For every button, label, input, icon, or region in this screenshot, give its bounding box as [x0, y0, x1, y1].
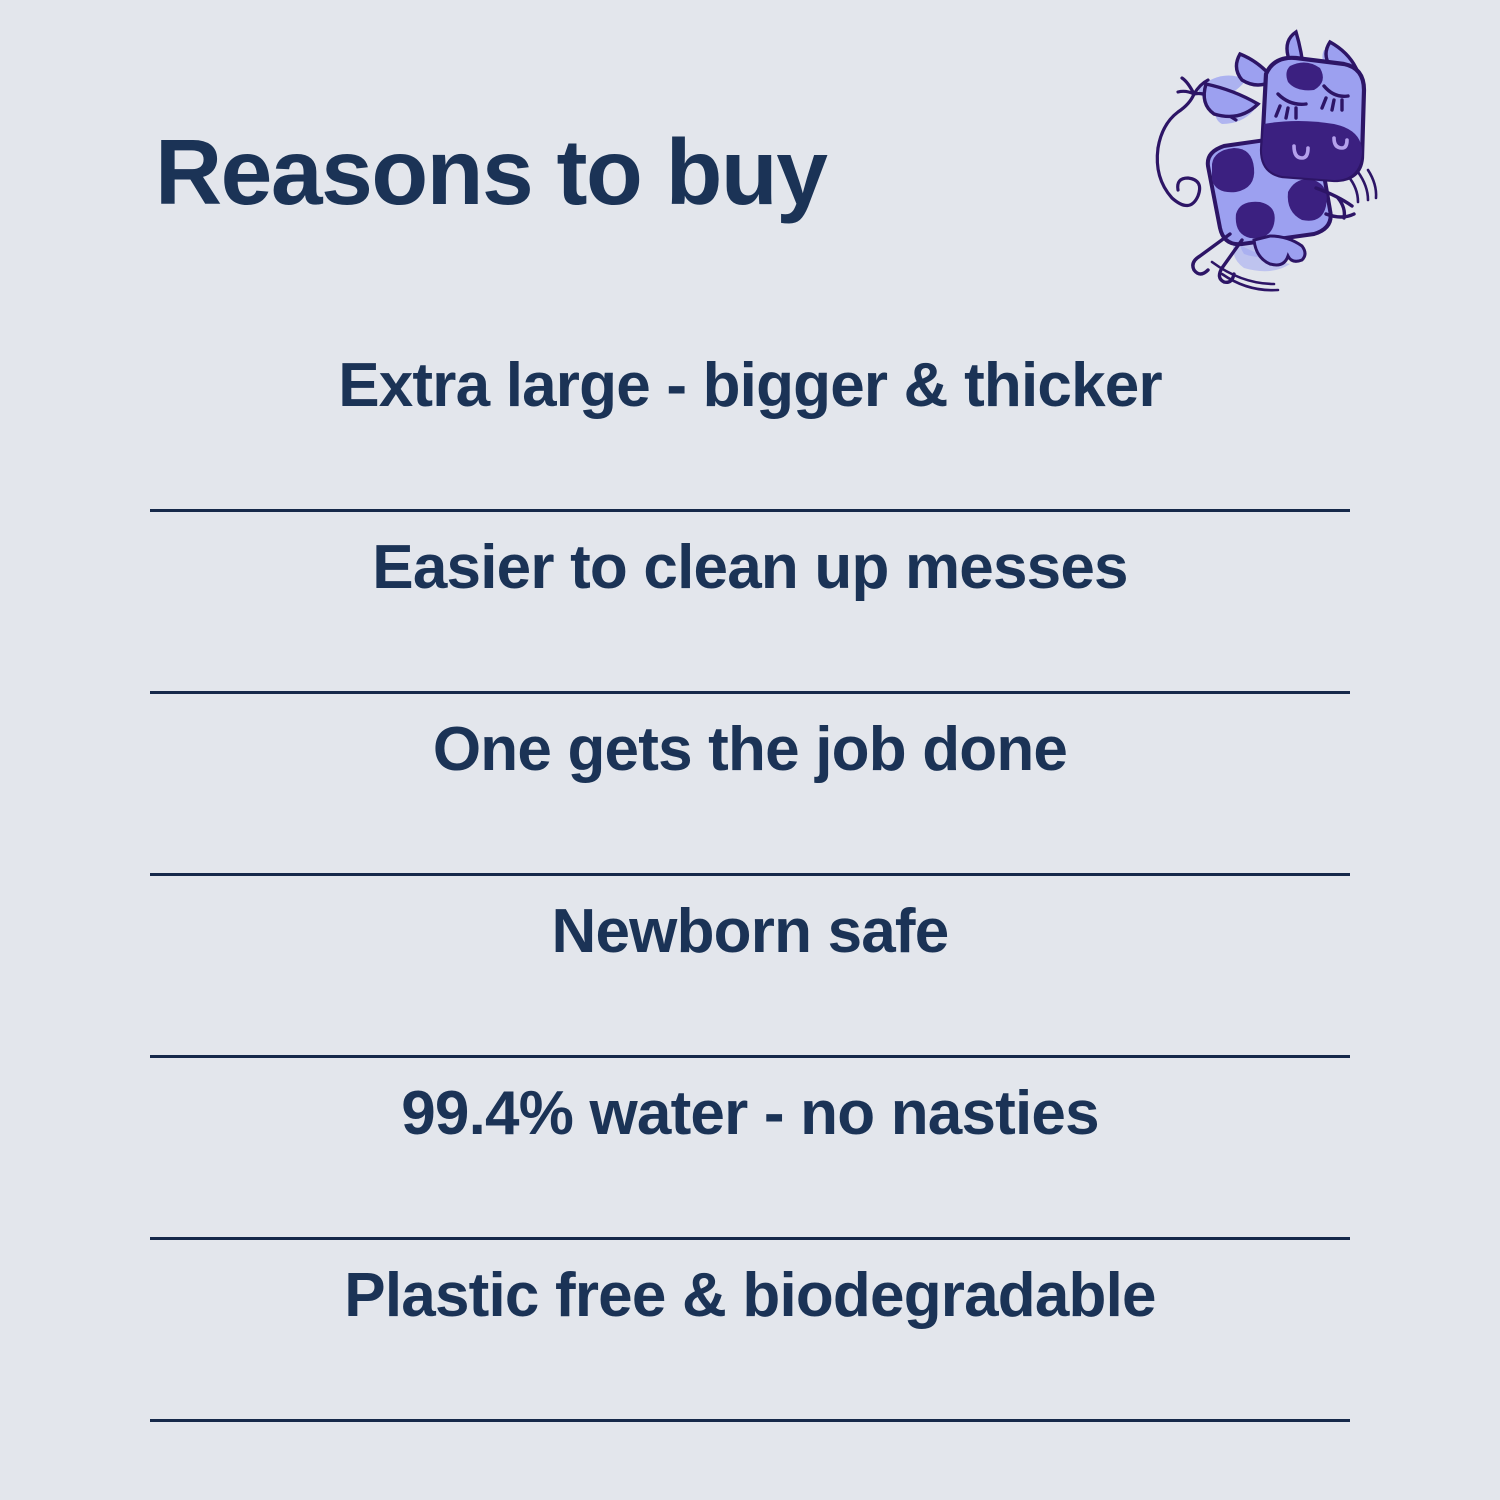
list-item: Easier to clean up messes [150, 512, 1350, 694]
reason-label: One gets the job done [150, 716, 1350, 784]
reason-label: Easier to clean up messes [150, 534, 1350, 602]
page-title: Reasons to buy [155, 126, 826, 219]
cow-mascot-illustration [1138, 28, 1388, 293]
list-item: 99.4% water - no nasties [150, 1058, 1350, 1240]
list-item: Plastic free & biodegradable [150, 1240, 1350, 1422]
list-item: Extra large - bigger & thicker [150, 330, 1350, 512]
reason-label: Plastic free & biodegradable [150, 1262, 1350, 1330]
reason-label: Extra large - bigger & thicker [150, 352, 1350, 420]
list-item: Newborn safe [150, 876, 1350, 1058]
cow-head [1262, 58, 1364, 180]
list-item: One gets the job done [150, 694, 1350, 876]
row-divider [150, 1419, 1350, 1422]
reason-label: Newborn safe [150, 898, 1350, 966]
reasons-to-buy-infographic: Reasons to buy [0, 0, 1500, 1500]
reason-label: 99.4% water - no nasties [150, 1080, 1350, 1148]
reasons-list: Extra large - bigger & thicker Easier to… [150, 330, 1350, 1422]
